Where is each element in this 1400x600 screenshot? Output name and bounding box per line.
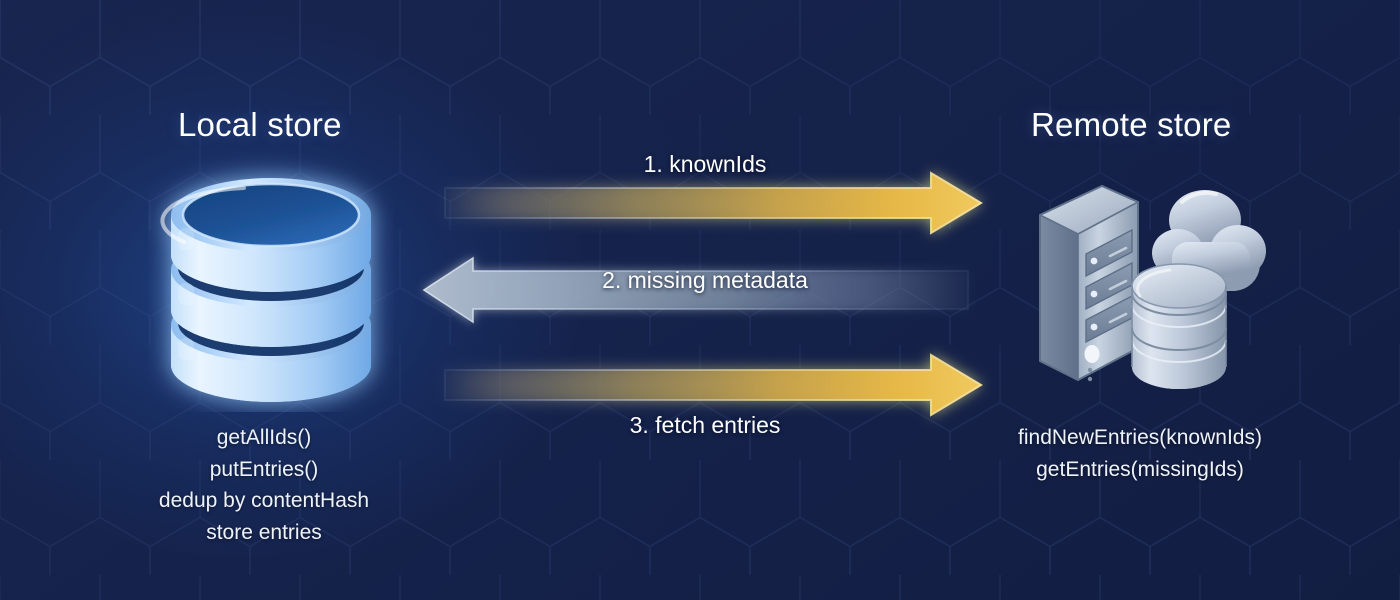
local-caption-line: putEntries() <box>64 454 464 486</box>
server-cloud-database-icon <box>1022 158 1274 410</box>
local-caption-line: store entries <box>64 517 464 549</box>
arrow-2-label: 2. missing metadata <box>505 267 905 294</box>
local-caption-line: dedup by contentHash <box>64 485 464 517</box>
arrow-3-label: 3. fetch entries <box>505 412 905 439</box>
remote-database-cylinder <box>1132 264 1226 389</box>
remote-store-title: Remote store <box>1031 106 1231 144</box>
diagram-canvas: Local store <box>0 0 1400 600</box>
database-cylinder-icon <box>148 150 394 412</box>
arrow-3-fetch-entries <box>445 355 981 415</box>
local-store-title: Local store <box>178 106 342 144</box>
local-caption-line: getAllIds() <box>64 422 464 454</box>
remote-caption-line: findNewEntries(knownIds) <box>940 422 1340 454</box>
remote-store-captions: findNewEntries(knownIds) getEntries(miss… <box>940 422 1340 485</box>
server-tower-shape <box>1040 186 1138 381</box>
local-store-captions: getAllIds() putEntries() dedup by conten… <box>64 422 464 548</box>
remote-caption-line: getEntries(missingIds) <box>940 454 1340 486</box>
arrow-1-knownids <box>445 173 981 233</box>
arrow-1-label: 1. knownIds <box>505 151 905 178</box>
